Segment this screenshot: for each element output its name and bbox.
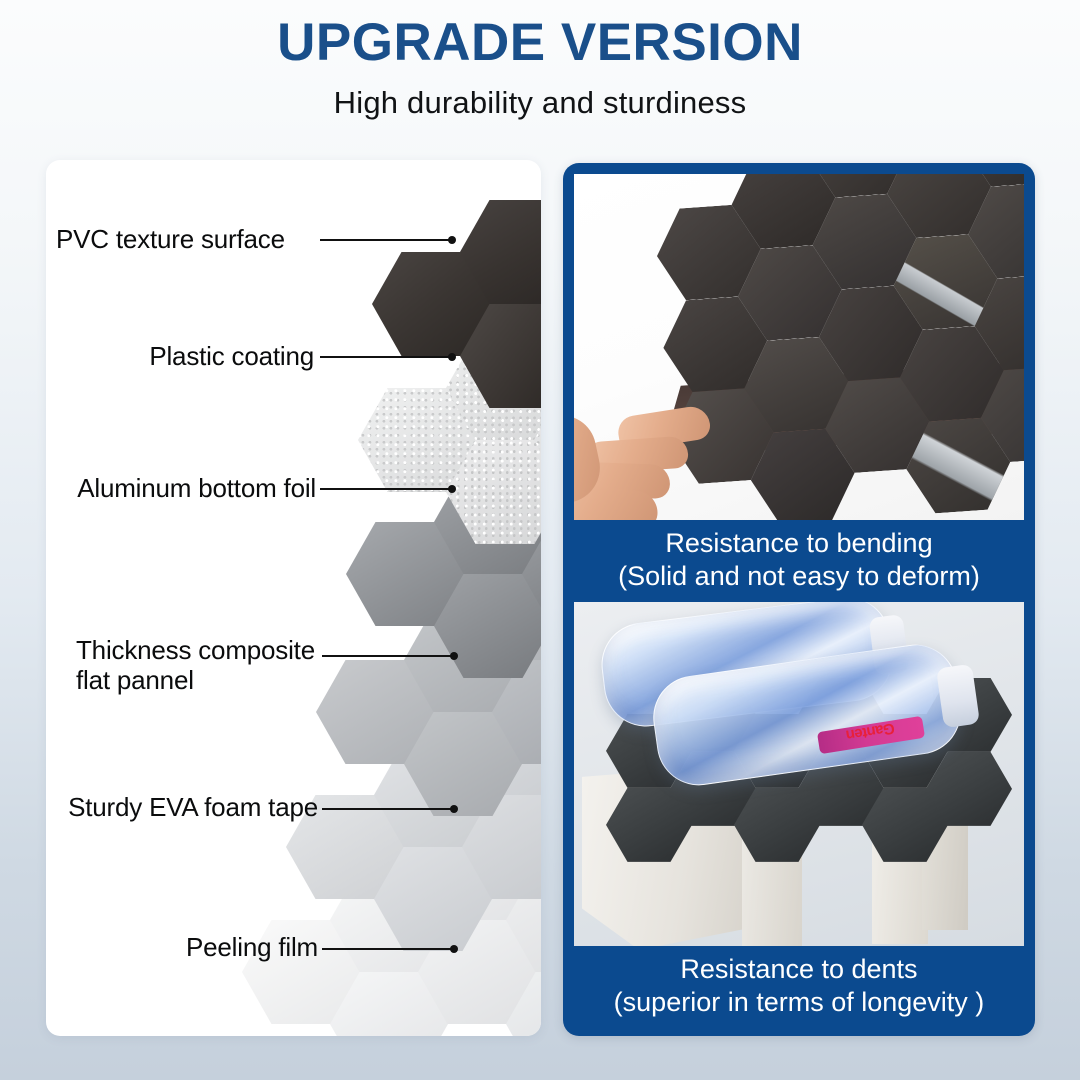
- leader-line-sturdy-eva-foam-tape: [322, 808, 454, 810]
- caption-line-2: (superior in terms of longevity ): [574, 986, 1024, 1019]
- dent-test-photo: Ganten: [574, 602, 1024, 946]
- bending-test-photo: [574, 174, 1024, 520]
- leader-line-thickness-composite-flat-pannel: [322, 655, 454, 657]
- page-title: UPGRADE VERSION: [277, 16, 803, 69]
- leader-line-plastic-coating: [320, 356, 452, 358]
- caption-line-1: Resistance to bending: [574, 527, 1024, 560]
- hand: [574, 409, 703, 520]
- layer-pvc-texture-surface: [372, 182, 541, 392]
- label-aluminum-bottom-foil: Aluminum bottom foil: [66, 473, 316, 503]
- label-thickness-composite-flat-pannel: Thickness composite flat pannel: [76, 635, 319, 695]
- dent-test-caption: Resistance to dents (superior in terms o…: [574, 946, 1024, 1028]
- page-subtitle: High durability and sturdiness: [334, 85, 747, 121]
- leader-line-peeling-film: [322, 948, 454, 950]
- label-pvc-texture-surface: PVC texture surface: [56, 224, 318, 254]
- caption-line-1: Resistance to dents: [574, 953, 1024, 986]
- leader-line-pvc-texture-surface: [320, 239, 452, 241]
- feature-photo-frame: Resistance to bending (Solid and not eas…: [563, 163, 1035, 1036]
- hex-tile-sheet: [651, 174, 1024, 500]
- caption-line-2: (Solid and not easy to deform): [574, 560, 1024, 593]
- header: UPGRADE VERSION High durability and stur…: [0, 0, 1080, 136]
- label-peeling-film: Peeling film: [132, 932, 318, 962]
- label-sturdy-eva-foam-tape: Sturdy EVA foam tape: [68, 792, 318, 822]
- layer-structure-card: PVC texture surface Plastic coating Alum…: [46, 160, 541, 1036]
- label-plastic-coating: Plastic coating: [118, 341, 314, 371]
- leader-line-aluminum-bottom-foil: [320, 488, 452, 490]
- bending-test-caption: Resistance to bending (Solid and not eas…: [574, 520, 1024, 602]
